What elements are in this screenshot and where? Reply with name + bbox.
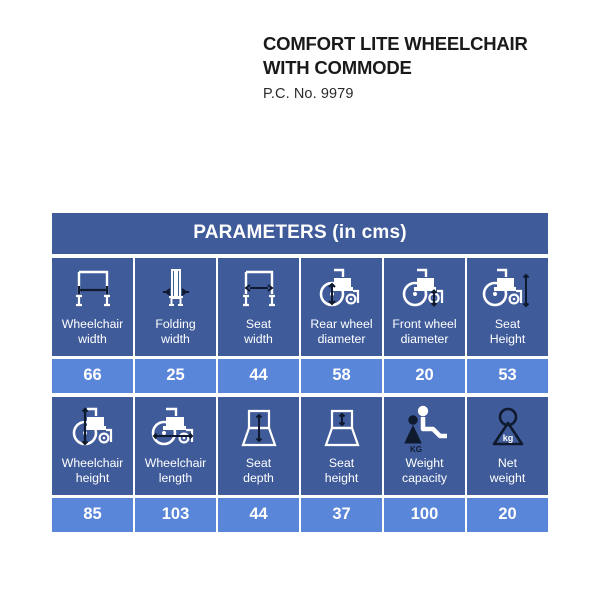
- table-header-title: PARAMETERS (in cms): [52, 213, 548, 254]
- folding-width-icon: [135, 258, 216, 316]
- parameter-label: Weight capacity: [384, 455, 465, 495]
- parameter-cell-wheelchair-length[interactable]: Wheelchair length: [135, 397, 216, 495]
- parameter-cell-folding-width[interactable]: Folding width: [135, 258, 216, 356]
- parameter-label: Net weight: [467, 455, 548, 495]
- page-title: COMFORT LITE WHEELCHAIR WITH COMMODE: [263, 32, 563, 79]
- value-weight-capacity: 100: [384, 498, 465, 532]
- value-folding-width: 25: [135, 359, 216, 393]
- parameter-cell-seat-depth[interactable]: Seat depth: [218, 397, 299, 495]
- rear-wheel-icon: [301, 258, 382, 316]
- parameter-cell-wheelchair-height[interactable]: Wheelchair height: [52, 397, 133, 495]
- parameters-table: PARAMETERS (in cms) Wheelchair width: [52, 213, 548, 532]
- value-wheelchair-height: 85: [52, 498, 133, 532]
- parameter-cell-rear-wheel-diameter[interactable]: Rear wheel diameter: [301, 258, 382, 356]
- value-seat-width: 44: [218, 359, 299, 393]
- parameter-cell-seat-height[interactable]: Seat Height: [467, 258, 548, 356]
- value-row-2: 85 103 44 37 100 20: [52, 498, 548, 532]
- parameter-row-2: Wheelchair height Wheelchair length: [52, 397, 548, 495]
- value-net-weight: 20: [467, 498, 548, 532]
- weight-capacity-unit: KG: [410, 445, 422, 454]
- parameter-label: Seat Height: [467, 316, 548, 356]
- parameter-cell-weight-capacity[interactable]: KG Weight capacity: [384, 397, 465, 495]
- weight-capacity-icon: KG: [384, 397, 465, 455]
- front-wheel-icon: [384, 258, 465, 316]
- value-seat-depth: 44: [218, 498, 299, 532]
- parameter-cell-seat-height-front[interactable]: Seat height: [301, 397, 382, 495]
- parameter-label: Wheelchair length: [135, 455, 216, 495]
- wheelchair-height-icon: [52, 397, 133, 455]
- wheelchair-width-icon: [52, 258, 133, 316]
- value-seat-height-2: 37: [301, 498, 382, 532]
- parameter-cell-net-weight[interactable]: kg Net weight: [467, 397, 548, 495]
- net-weight-unit: kg: [502, 433, 513, 443]
- parameter-label: Wheelchair height: [52, 455, 133, 495]
- product-title-block: COMFORT LITE WHEELCHAIR WITH COMMODE P.C…: [263, 32, 563, 102]
- value-front-wheel: 20: [384, 359, 465, 393]
- parameter-label: Rear wheel diameter: [301, 316, 382, 356]
- parameter-label: Front wheel diameter: [384, 316, 465, 356]
- value-wheelchair-width: 66: [52, 359, 133, 393]
- value-seat-height-1: 53: [467, 359, 548, 393]
- parameter-row-1: Wheelchair width Folding width: [52, 258, 548, 356]
- parameter-cell-wheelchair-width[interactable]: Wheelchair width: [52, 258, 133, 356]
- value-row-1: 66 25 44 58 20 53: [52, 359, 548, 393]
- parameter-label: Wheelchair width: [52, 316, 133, 356]
- seat-height-side-icon: [467, 258, 548, 316]
- value-wheelchair-length: 103: [135, 498, 216, 532]
- product-code: P.C. No. 9979: [263, 86, 563, 102]
- net-weight-icon: kg: [467, 397, 548, 455]
- parameter-label: Folding width: [135, 316, 216, 356]
- parameter-label: Seat height: [301, 455, 382, 495]
- seat-width-icon: [218, 258, 299, 316]
- seat-depth-icon: [218, 397, 299, 455]
- parameter-cell-front-wheel-diameter[interactable]: Front wheel diameter: [384, 258, 465, 356]
- parameter-cell-seat-width[interactable]: Seat width: [218, 258, 299, 356]
- parameter-label: Seat depth: [218, 455, 299, 495]
- parameter-label: Seat width: [218, 316, 299, 356]
- wheelchair-length-icon: [135, 397, 216, 455]
- seat-height-front-icon: [301, 397, 382, 455]
- value-rear-wheel: 58: [301, 359, 382, 393]
